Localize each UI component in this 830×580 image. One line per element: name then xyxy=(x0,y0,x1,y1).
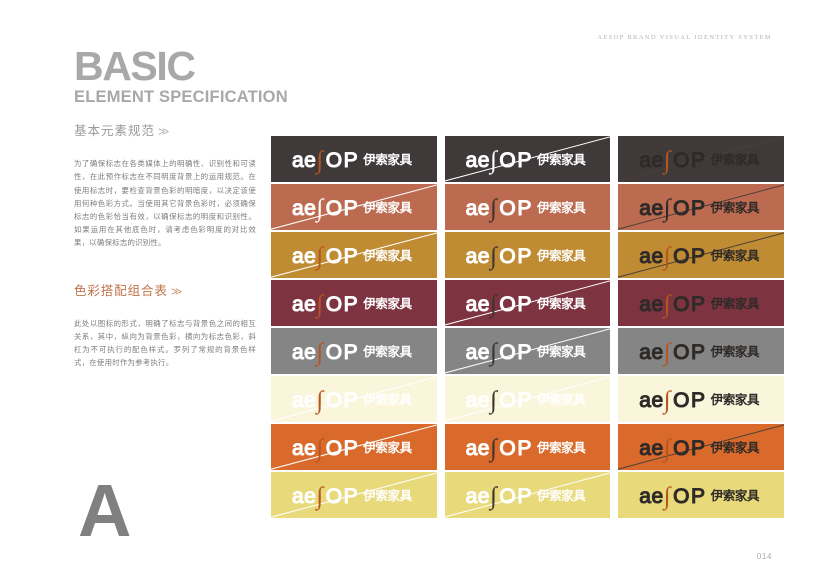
logo-swash-icon: ∫ xyxy=(490,196,498,221)
logo-latin-prefix: ae xyxy=(639,294,663,315)
chevron-right-icon: ≫ xyxy=(158,125,171,138)
logo-latin-suffix: OP xyxy=(326,486,360,507)
logo-latin-suffix: OP xyxy=(326,246,360,267)
logo-cn-name: 伊索家具 xyxy=(363,442,411,455)
logo-lockup: ae∫OP伊索家具 xyxy=(639,339,759,364)
logo-latin-prefix: ae xyxy=(292,390,316,411)
logo-cn-name: 伊索家具 xyxy=(537,154,585,167)
logo-latin-mark: ae∫OP xyxy=(292,483,359,508)
logo-swash-icon: ∫ xyxy=(316,436,324,461)
logo-latin-suffix: OP xyxy=(673,438,707,459)
logo-latin-suffix: OP xyxy=(499,246,533,267)
chevron-right-icon: ≫ xyxy=(171,285,183,298)
logo-latin-mark: ae∫OP xyxy=(466,243,533,268)
logo-cn-name: 伊索家具 xyxy=(537,394,585,407)
section-heading-label: 色彩搭配组合表 xyxy=(74,283,168,298)
logo-latin-suffix: OP xyxy=(673,486,707,507)
logo-swash-icon: ∫ xyxy=(316,340,324,365)
logo-swash-icon: ∫ xyxy=(316,388,324,413)
logo-latin-suffix: OP xyxy=(326,294,360,315)
logo-latin-prefix: ae xyxy=(466,294,490,315)
logo-cn-name: 伊索家具 xyxy=(711,394,759,407)
logo-latin-prefix: ae xyxy=(466,486,490,507)
logo-latin-prefix: ae xyxy=(639,150,663,171)
logo-latin-prefix: ae xyxy=(639,438,663,459)
logo-lockup: ae∫OP伊索家具 xyxy=(466,195,586,220)
logo-cn-name: 伊索家具 xyxy=(363,394,411,407)
logo-lockup: ae∫OP伊索家具 xyxy=(639,147,759,172)
logo-latin-mark: ae∫OP xyxy=(639,387,706,412)
logo-swash-icon: ∫ xyxy=(664,484,672,509)
color-swatch-charcoal-2[interactable]: ae∫OP伊索家具 xyxy=(445,136,611,182)
logo-swash-icon: ∫ xyxy=(490,292,498,317)
logo-latin-prefix: ae xyxy=(292,486,316,507)
logo-cn-name: 伊索家具 xyxy=(711,250,759,263)
logo-lockup: ae∫OP伊索家具 xyxy=(466,147,586,172)
logo-latin-prefix: ae xyxy=(292,342,316,363)
color-swatch-terracotta-2[interactable]: ae∫OP伊索家具 xyxy=(445,184,611,230)
logo-swash-icon: ∫ xyxy=(664,340,672,365)
logo-cn-name: 伊索家具 xyxy=(537,298,585,311)
logo-lockup: ae∫OP伊索家具 xyxy=(466,339,586,364)
color-combination-grid: ae∫OP伊索家具ae∫OP伊索家具ae∫OP伊索家具ae∫OP伊索家具ae∫O… xyxy=(271,136,784,518)
logo-latin-suffix: OP xyxy=(673,150,707,171)
logo-lockup: ae∫OP伊索家具 xyxy=(466,243,586,268)
logo-latin-prefix: ae xyxy=(466,198,490,219)
section-letter: A xyxy=(78,474,129,548)
color-swatch-grey-2[interactable]: ae∫OP伊索家具 xyxy=(445,328,611,374)
logo-latin-mark: ae∫OP xyxy=(639,243,706,268)
section-paragraph: 此处以图标的形式，明确了标志与背景色之间的相互关系，其中，纵向为背景色彩，横向为… xyxy=(74,317,256,370)
color-swatch-sand-1[interactable]: ae∫OP伊索家具 xyxy=(271,472,437,518)
logo-lockup: ae∫OP伊索家具 xyxy=(639,243,759,268)
logo-swash-icon: ∫ xyxy=(316,148,324,173)
logo-latin-suffix: OP xyxy=(326,390,360,411)
logo-lockup: ae∫OP伊索家具 xyxy=(639,195,759,220)
logo-cn-name: 伊索家具 xyxy=(363,202,411,215)
logo-latin-suffix: OP xyxy=(326,150,360,171)
section-heading: 色彩搭配组合表≫ xyxy=(74,280,256,299)
logo-latin-mark: ae∫OP xyxy=(639,483,706,508)
logo-latin-suffix: OP xyxy=(326,438,360,459)
logo-cn-name: 伊索家具 xyxy=(537,250,585,263)
logo-latin-prefix: ae xyxy=(466,246,490,267)
logo-latin-prefix: ae xyxy=(292,246,316,267)
logo-cn-name: 伊索家具 xyxy=(711,202,759,215)
page-number: 014 xyxy=(757,552,772,561)
logo-lockup: ae∫OP伊索家具 xyxy=(466,435,586,460)
logo-swash-icon: ∫ xyxy=(316,244,324,269)
left-text-column: BASIC ELEMENT SPECIFICATION 基本元素规范≫ 为了确保… xyxy=(74,46,256,369)
logo-latin-prefix: ae xyxy=(639,198,663,219)
color-swatch-ochre-2[interactable]: ae∫OP伊索家具 xyxy=(445,232,611,278)
logo-cn-name: 伊索家具 xyxy=(537,490,585,503)
logo-latin-mark: ae∫OP xyxy=(466,435,533,460)
brand-system-header: AESOP BRAND VISUAL IDENTITY SYSTEM xyxy=(597,34,772,41)
logo-latin-mark: ae∫OP xyxy=(466,387,533,412)
logo-latin-prefix: ae xyxy=(639,390,663,411)
logo-latin-mark: ae∫OP xyxy=(639,339,706,364)
logo-latin-prefix: ae xyxy=(292,294,316,315)
logo-latin-suffix: OP xyxy=(499,486,533,507)
logo-latin-prefix: ae xyxy=(466,390,490,411)
logo-latin-mark: ae∫OP xyxy=(639,291,706,316)
logo-cn-name: 伊索家具 xyxy=(363,298,411,311)
page-title-cn-label: 基本元素规范 xyxy=(74,123,155,138)
logo-latin-prefix: ae xyxy=(639,246,663,267)
logo-cn-name: 伊索家具 xyxy=(711,490,759,503)
logo-latin-mark: ae∫OP xyxy=(466,195,533,220)
logo-latin-suffix: OP xyxy=(673,342,707,363)
logo-lockup: ae∫OP伊索家具 xyxy=(292,387,412,412)
logo-cn-name: 伊索家具 xyxy=(537,202,585,215)
logo-latin-mark: ae∫OP xyxy=(639,195,706,220)
logo-swash-icon: ∫ xyxy=(664,436,672,461)
logo-cn-name: 伊索家具 xyxy=(711,346,759,359)
logo-swash-icon: ∫ xyxy=(316,484,324,509)
color-swatch-orange-2[interactable]: ae∫OP伊索家具 xyxy=(445,424,611,470)
color-swatch-charcoal-3[interactable]: ae∫OP伊索家具 xyxy=(618,136,784,182)
logo-latin-mark: ae∫OP xyxy=(292,435,359,460)
logo-swash-icon: ∫ xyxy=(664,196,672,221)
color-swatch-terracotta-3[interactable]: ae∫OP伊索家具 xyxy=(618,184,784,230)
logo-cn-name: 伊索家具 xyxy=(711,298,759,311)
logo-latin-mark: ae∫OP xyxy=(466,291,533,316)
page-subtitle: ELEMENT SPECIFICATION xyxy=(74,88,256,106)
logo-latin-mark: ae∫OP xyxy=(466,339,533,364)
logo-lockup: ae∫OP伊索家具 xyxy=(639,483,759,508)
color-swatch-grey-3[interactable]: ae∫OP伊索家具 xyxy=(618,328,784,374)
logo-cn-name: 伊索家具 xyxy=(537,346,585,359)
logo-swash-icon: ∫ xyxy=(316,292,324,317)
logo-swash-icon: ∫ xyxy=(490,388,498,413)
logo-swash-icon: ∫ xyxy=(490,484,498,509)
logo-latin-mark: ae∫OP xyxy=(639,147,706,172)
color-swatch-wine-1[interactable]: ae∫OP伊索家具 xyxy=(271,280,437,326)
color-swatch-terracotta-1[interactable]: ae∫OP伊索家具 xyxy=(271,184,437,230)
logo-latin-suffix: OP xyxy=(499,342,533,363)
color-swatch-sand-2[interactable]: ae∫OP伊索家具 xyxy=(445,472,611,518)
logo-latin-prefix: ae xyxy=(466,438,490,459)
logo-cn-name: 伊索家具 xyxy=(363,250,411,263)
logo-lockup: ae∫OP伊索家具 xyxy=(292,291,412,316)
logo-latin-suffix: OP xyxy=(499,390,533,411)
logo-latin-suffix: OP xyxy=(499,438,533,459)
logo-swash-icon: ∫ xyxy=(664,148,672,173)
logo-latin-suffix: OP xyxy=(499,150,533,171)
color-swatch-charcoal-1[interactable]: ae∫OP伊索家具 xyxy=(271,136,437,182)
logo-latin-mark: ae∫OP xyxy=(292,387,359,412)
intro-paragraph: 为了确保标志在各类媒体上的明确性、识别性和可读性，在此预作标志在不同明度背景上的… xyxy=(74,157,256,249)
logo-latin-suffix: OP xyxy=(673,294,707,315)
logo-latin-mark: ae∫OP xyxy=(292,339,359,364)
logo-lockup: ae∫OP伊索家具 xyxy=(639,435,759,460)
color-swatch-cream-2[interactable]: ae∫OP伊索家具 xyxy=(445,376,611,422)
color-swatch-orange-1[interactable]: ae∫OP伊索家具 xyxy=(271,424,437,470)
logo-lockup: ae∫OP伊索家具 xyxy=(466,387,586,412)
logo-lockup: ae∫OP伊索家具 xyxy=(466,483,586,508)
logo-swash-icon: ∫ xyxy=(664,292,672,317)
logo-lockup: ae∫OP伊索家具 xyxy=(292,483,412,508)
color-swatch-ochre-3[interactable]: ae∫OP伊索家具 xyxy=(618,232,784,278)
logo-cn-name: 伊索家具 xyxy=(363,490,411,503)
logo-lockup: ae∫OP伊索家具 xyxy=(292,435,412,460)
color-swatch-ochre-1[interactable]: ae∫OP伊索家具 xyxy=(271,232,437,278)
logo-latin-suffix: OP xyxy=(326,198,360,219)
logo-swash-icon: ∫ xyxy=(664,388,672,413)
logo-swash-icon: ∫ xyxy=(490,340,498,365)
logo-latin-prefix: ae xyxy=(292,198,316,219)
logo-cn-name: 伊索家具 xyxy=(363,154,411,167)
logo-lockup: ae∫OP伊索家具 xyxy=(292,339,412,364)
logo-latin-mark: ae∫OP xyxy=(292,195,359,220)
logo-swash-icon: ∫ xyxy=(490,148,498,173)
logo-latin-suffix: OP xyxy=(326,342,360,363)
logo-lockup: ae∫OP伊索家具 xyxy=(292,147,412,172)
color-swatch-cream-1[interactable]: ae∫OP伊索家具 xyxy=(271,376,437,422)
logo-lockup: ae∫OP伊索家具 xyxy=(639,291,759,316)
logo-latin-prefix: ae xyxy=(466,342,490,363)
color-swatch-cream-3[interactable]: ae∫OP伊索家具 xyxy=(618,376,784,422)
logo-latin-prefix: ae xyxy=(292,150,316,171)
logo-swash-icon: ∫ xyxy=(664,244,672,269)
page-title: BASIC xyxy=(74,46,256,86)
logo-latin-suffix: OP xyxy=(673,390,707,411)
color-swatch-wine-2[interactable]: ae∫OP伊索家具 xyxy=(445,280,611,326)
logo-latin-prefix: ae xyxy=(639,486,663,507)
color-swatch-sand-3[interactable]: ae∫OP伊索家具 xyxy=(618,472,784,518)
logo-swash-icon: ∫ xyxy=(490,436,498,461)
logo-lockup: ae∫OP伊索家具 xyxy=(466,291,586,316)
page-title-cn: 基本元素规范≫ xyxy=(74,120,256,139)
logo-latin-suffix: OP xyxy=(499,198,533,219)
logo-swash-icon: ∫ xyxy=(316,196,324,221)
logo-latin-mark: ae∫OP xyxy=(639,435,706,460)
logo-latin-mark: ae∫OP xyxy=(466,147,533,172)
logo-latin-prefix: ae xyxy=(639,342,663,363)
logo-latin-suffix: OP xyxy=(499,294,533,315)
logo-lockup: ae∫OP伊索家具 xyxy=(639,387,759,412)
logo-latin-mark: ae∫OP xyxy=(292,243,359,268)
logo-swash-icon: ∫ xyxy=(490,244,498,269)
logo-latin-mark: ae∫OP xyxy=(466,483,533,508)
logo-latin-prefix: ae xyxy=(466,150,490,171)
logo-cn-name: 伊索家具 xyxy=(711,442,759,455)
color-swatch-orange-3[interactable]: ae∫OP伊索家具 xyxy=(618,424,784,470)
logo-latin-suffix: OP xyxy=(673,246,707,267)
logo-lockup: ae∫OP伊索家具 xyxy=(292,195,412,220)
logo-latin-mark: ae∫OP xyxy=(292,291,359,316)
logo-cn-name: 伊索家具 xyxy=(711,154,759,167)
logo-lockup: ae∫OP伊索家具 xyxy=(292,243,412,268)
logo-cn-name: 伊索家具 xyxy=(363,346,411,359)
logo-cn-name: 伊索家具 xyxy=(537,442,585,455)
logo-latin-suffix: OP xyxy=(673,198,707,219)
color-swatch-grey-1[interactable]: ae∫OP伊索家具 xyxy=(271,328,437,374)
logo-latin-mark: ae∫OP xyxy=(292,147,359,172)
logo-latin-prefix: ae xyxy=(292,438,316,459)
color-swatch-wine-3[interactable]: ae∫OP伊索家具 xyxy=(618,280,784,326)
